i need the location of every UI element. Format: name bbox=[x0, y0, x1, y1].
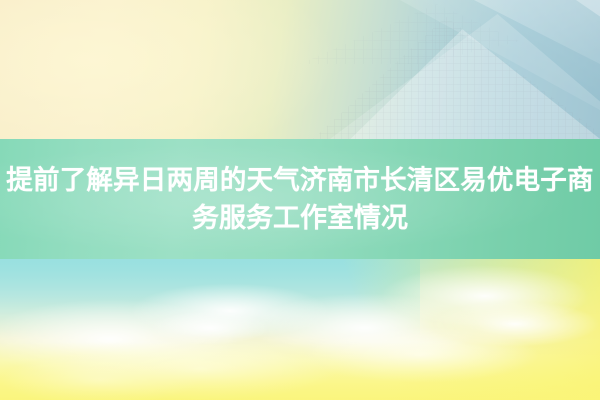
polygon-facet-e bbox=[560, 0, 600, 30]
warm-glow-blotch bbox=[0, 0, 340, 139]
banner-title-line-2: 务服务工作室情况 bbox=[192, 201, 408, 235]
banner-title-line-1: 提前了解异日两周的天气济南市长清区易优电子商 bbox=[6, 163, 593, 197]
green-title-banner: 提前了解异日两周的天气济南市长清区易优电子商 务服务工作室情况 bbox=[0, 139, 600, 259]
top-geometric-artwork bbox=[0, 0, 600, 139]
banner-title-block: 提前了解异日两周的天气济南市长清区易优电子商 务服务工作室情况 bbox=[0, 139, 600, 259]
sky-cloud-photo bbox=[0, 259, 600, 400]
sky-bottom-wash bbox=[0, 342, 600, 400]
poster-banner-image: 提前了解异日两周的天气济南市长清区易优电子商 务服务工作室情况 bbox=[0, 0, 600, 400]
